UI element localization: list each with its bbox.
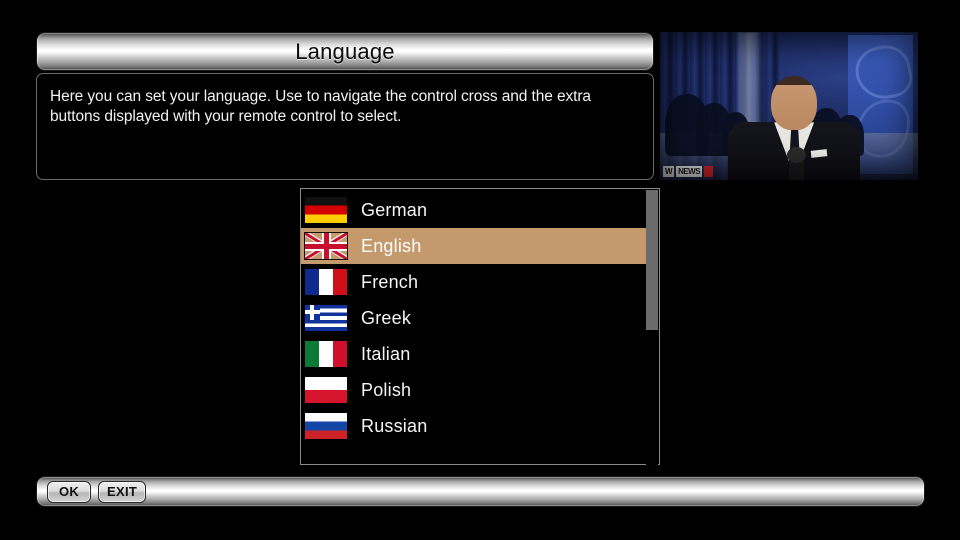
tv-settings-screen: Language Here you can set your language.… [0, 0, 960, 540]
list-scrollbar[interactable] [646, 190, 658, 465]
flag-fr-icon [305, 269, 347, 295]
list-item[interactable]: Polish [301, 372, 646, 408]
flag-pl-icon [305, 377, 347, 403]
list-item[interactable]: Russian [301, 408, 646, 444]
ok-button[interactable]: OK [47, 481, 91, 503]
description-box: Here you can set your language. Use to n… [36, 73, 654, 180]
list-item[interactable]: Italian [301, 336, 646, 372]
list-scrollbar-thumb[interactable] [646, 190, 658, 330]
language-list[interactable]: German English French Greek Italian [301, 192, 646, 444]
list-item[interactable]: German [301, 192, 646, 228]
video-vignette [660, 32, 918, 180]
list-item[interactable]: English [301, 228, 646, 264]
flag-it-icon [305, 341, 347, 367]
list-item-label: Polish [361, 380, 411, 401]
video-preview[interactable]: W NEWS [660, 32, 918, 180]
description-text: Here you can set your language. Use to n… [50, 87, 639, 127]
list-item-label: English [361, 236, 421, 257]
list-item-label: Italian [361, 344, 410, 365]
list-item[interactable]: Greek [301, 300, 646, 336]
page-title: Language [295, 41, 394, 63]
flag-ru-icon [305, 413, 347, 439]
list-item-label: Greek [361, 308, 411, 329]
list-item-label: Russian [361, 416, 427, 437]
list-item-label: German [361, 200, 427, 221]
flag-de-icon [305, 197, 347, 223]
flag-gb-icon [305, 233, 347, 259]
language-list-panel: German English French Greek Italian [300, 188, 660, 465]
flag-gr-icon [305, 305, 347, 331]
bottom-action-bar: OK EXIT [36, 476, 925, 507]
exit-button[interactable]: EXIT [98, 481, 146, 503]
list-item-label: French [361, 272, 418, 293]
title-bar: Language [36, 32, 654, 71]
list-item[interactable]: French [301, 264, 646, 300]
